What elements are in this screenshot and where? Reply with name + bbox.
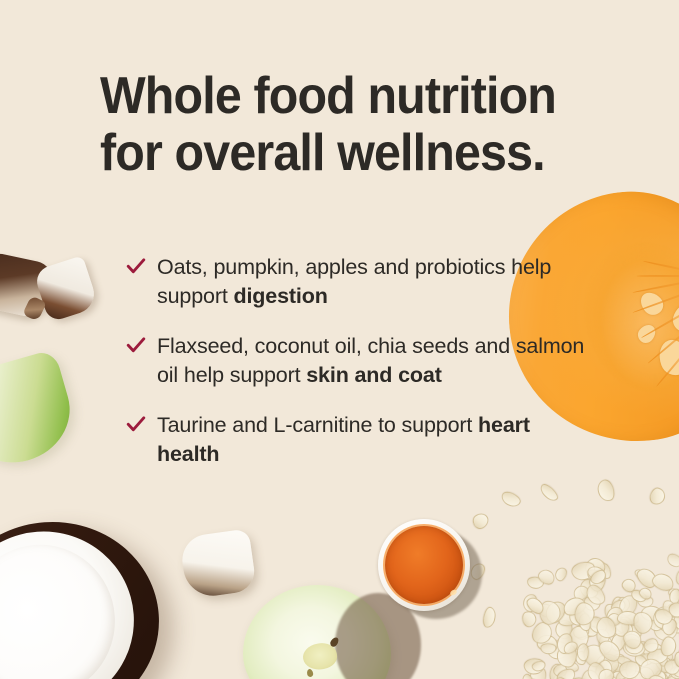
benefit-text: Oats, pumpkin, apples and probiotics hel…: [157, 255, 551, 308]
benefit-text: Taurine and L-carnitine to support heart…: [157, 413, 530, 466]
banner-copy: Whole food nutrition for overall wellnes…: [100, 68, 600, 182]
coconut-chunk-image: [179, 528, 257, 599]
benefit-text: Flaxseed, coconut oil, chia seeds and sa…: [157, 334, 584, 387]
oat-flake: [675, 569, 679, 587]
page-title: Whole food nutrition for overall wellnes…: [100, 68, 565, 182]
benefit-text-emphasis: skin and coat: [306, 363, 441, 387]
green-apple-half-image: [243, 585, 391, 679]
oat-flake: [540, 643, 556, 654]
benefit-text-plain: Oats, pumpkin, apples and probiotics hel…: [157, 255, 551, 308]
rolled-oats-image: [499, 507, 679, 679]
check-icon: [125, 335, 147, 357]
oat-flake: [481, 606, 497, 628]
check-icon: [125, 414, 147, 436]
oat-flake: [595, 478, 617, 504]
list-item: Flaxseed, coconut oil, chia seeds and sa…: [125, 332, 595, 389]
benefit-text-plain: Taurine and L-carnitine to support: [157, 413, 478, 437]
benefits-list: Oats, pumpkin, apples and probiotics hel…: [125, 253, 595, 468]
benefit-text-emphasis: digestion: [234, 284, 328, 308]
check-icon: [125, 256, 147, 278]
green-apple-wedge-image: [0, 349, 82, 475]
oat-flake: [666, 551, 679, 569]
product-benefits-banner: Whole food nutrition for overall wellnes…: [0, 0, 679, 679]
apple-seed: [306, 668, 314, 677]
oat-flake: [470, 510, 492, 532]
list-item: Oats, pumpkin, apples and probiotics hel…: [125, 253, 595, 310]
list-item: Taurine and L-carnitine to support heart…: [125, 411, 595, 468]
oat-flake: [499, 489, 522, 509]
oil-bowl-image: [378, 519, 470, 611]
coconut-half-image: [0, 515, 166, 679]
oat-flake: [648, 486, 667, 507]
oat-flake: [538, 482, 561, 504]
oat-flake: [553, 566, 568, 583]
